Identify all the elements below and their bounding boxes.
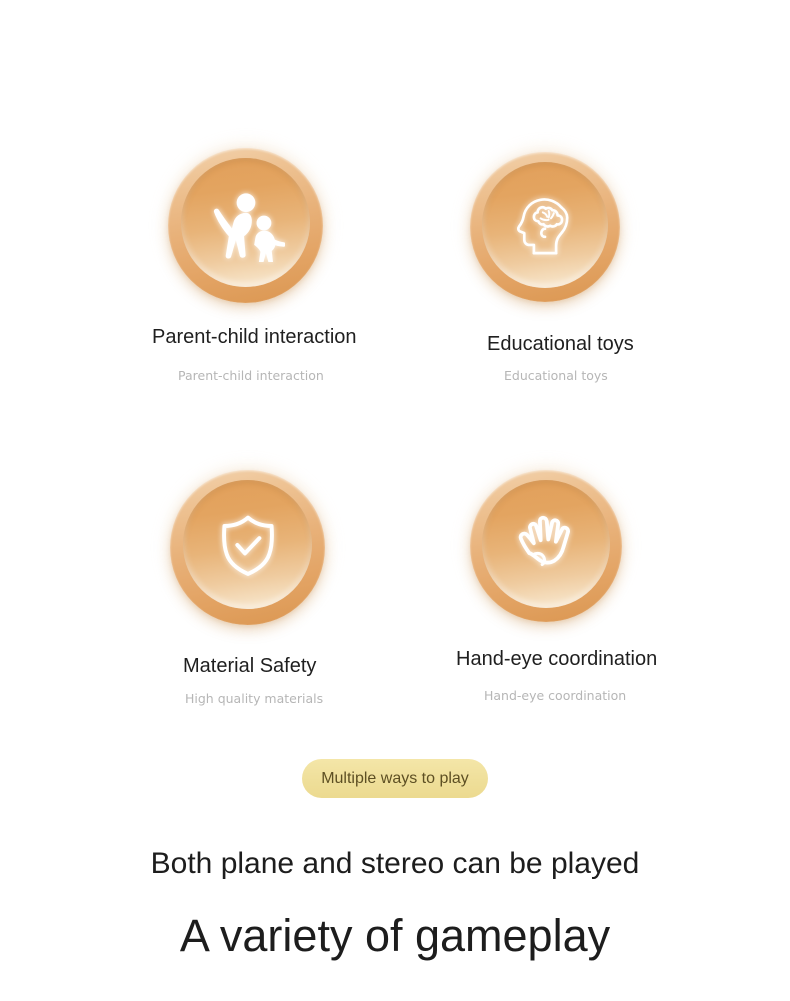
parent-and-child-icon — [207, 184, 285, 262]
coin-outer-ring — [470, 152, 620, 302]
subheading-text: Both plane and stereo can be played — [0, 843, 790, 885]
promo-feature-page: Parent-child interaction Parent-child in… — [0, 0, 790, 1001]
coin-badge[interactable] — [162, 462, 334, 634]
coin-inner-face — [482, 162, 608, 288]
coin-badge[interactable] — [160, 140, 332, 312]
feature-subtitle: Parent-child interaction — [178, 368, 324, 384]
coin-outer-ring — [470, 470, 622, 622]
coin-inner-face — [181, 158, 310, 287]
coin-inner-face — [482, 480, 610, 608]
head-with-brain-icon — [508, 188, 582, 262]
feature-subtitle: Educational toys — [504, 368, 608, 384]
main-heading-text: A variety of gameplay — [0, 905, 790, 967]
shield-check-icon — [210, 507, 286, 583]
coin-outer-ring — [168, 148, 323, 303]
feature-title: Material Safety — [183, 654, 316, 678]
feature-title: Parent-child interaction — [152, 325, 357, 349]
coin-inner-face — [183, 480, 312, 609]
multiple-ways-to-play-button[interactable]: Multiple ways to play — [302, 759, 488, 798]
coin-badge[interactable] — [462, 462, 630, 630]
open-hand-icon — [508, 506, 584, 582]
coin-outer-ring — [170, 470, 325, 625]
feature-subtitle: High quality materials — [185, 691, 323, 707]
coin-badge[interactable] — [462, 144, 628, 310]
feature-title: Hand-eye coordination — [456, 647, 657, 671]
feature-subtitle: Hand-eye coordination — [484, 688, 626, 704]
feature-title: Educational toys — [487, 332, 634, 356]
